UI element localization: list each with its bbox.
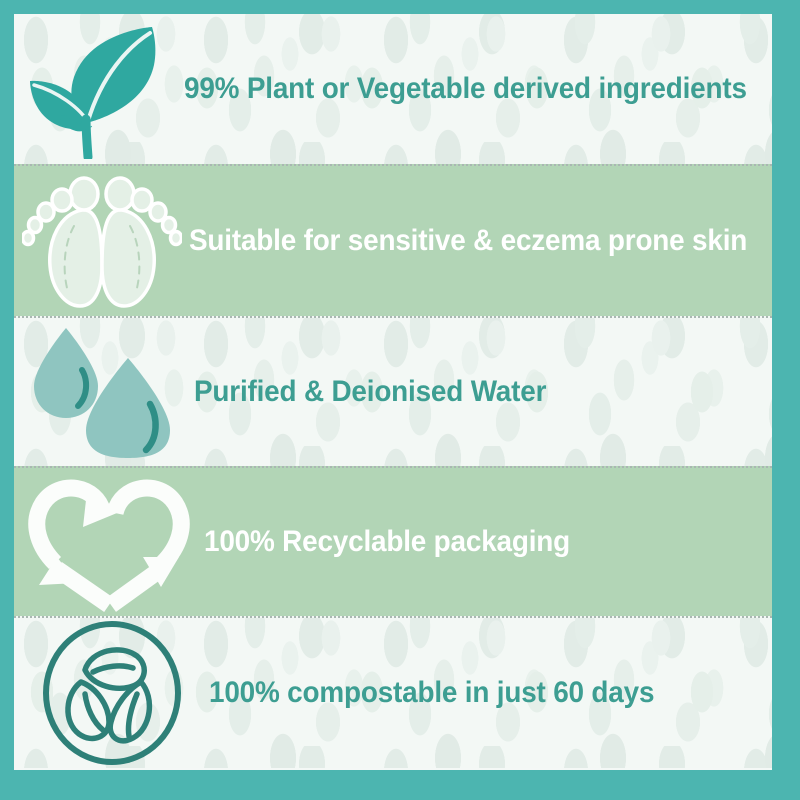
benefit-label-recyclable-packaging: 100% Recyclable packaging [204, 525, 570, 559]
benefit-row-recyclable-packaging: 100% Recyclable packaging [14, 466, 772, 616]
baby-footprints-icon [14, 165, 189, 316]
benefit-row-sensitive-skin: Suitable for sensitive & eczema prone sk… [14, 164, 772, 316]
benefit-label-purified-water: Purified & Deionised Water [194, 375, 546, 409]
leaf-sprout-icon [14, 14, 184, 164]
water-droplets-icon [14, 317, 194, 466]
benefit-label-compostable: 100% compostable in just 60 days [209, 676, 654, 710]
benefit-row-plant-derived: 99% Plant or Vegetable derived ingredien… [14, 14, 772, 164]
benefit-row-purified-water: Purified & Deionised Water [14, 316, 772, 466]
benefits-infographic: 99% Plant or Vegetable derived ingredien… [0, 0, 800, 800]
compostable-leaves-circle-icon [14, 617, 209, 768]
benefit-row-compostable: 100% compostable in just 60 days [14, 616, 772, 768]
benefit-label-sensitive-skin: Suitable for sensitive & eczema prone sk… [189, 224, 747, 258]
benefits-card: 99% Plant or Vegetable derived ingredien… [14, 14, 772, 770]
recycle-heart-icon [14, 467, 204, 616]
benefit-label-plant-derived: 99% Plant or Vegetable derived ingredien… [184, 72, 747, 106]
